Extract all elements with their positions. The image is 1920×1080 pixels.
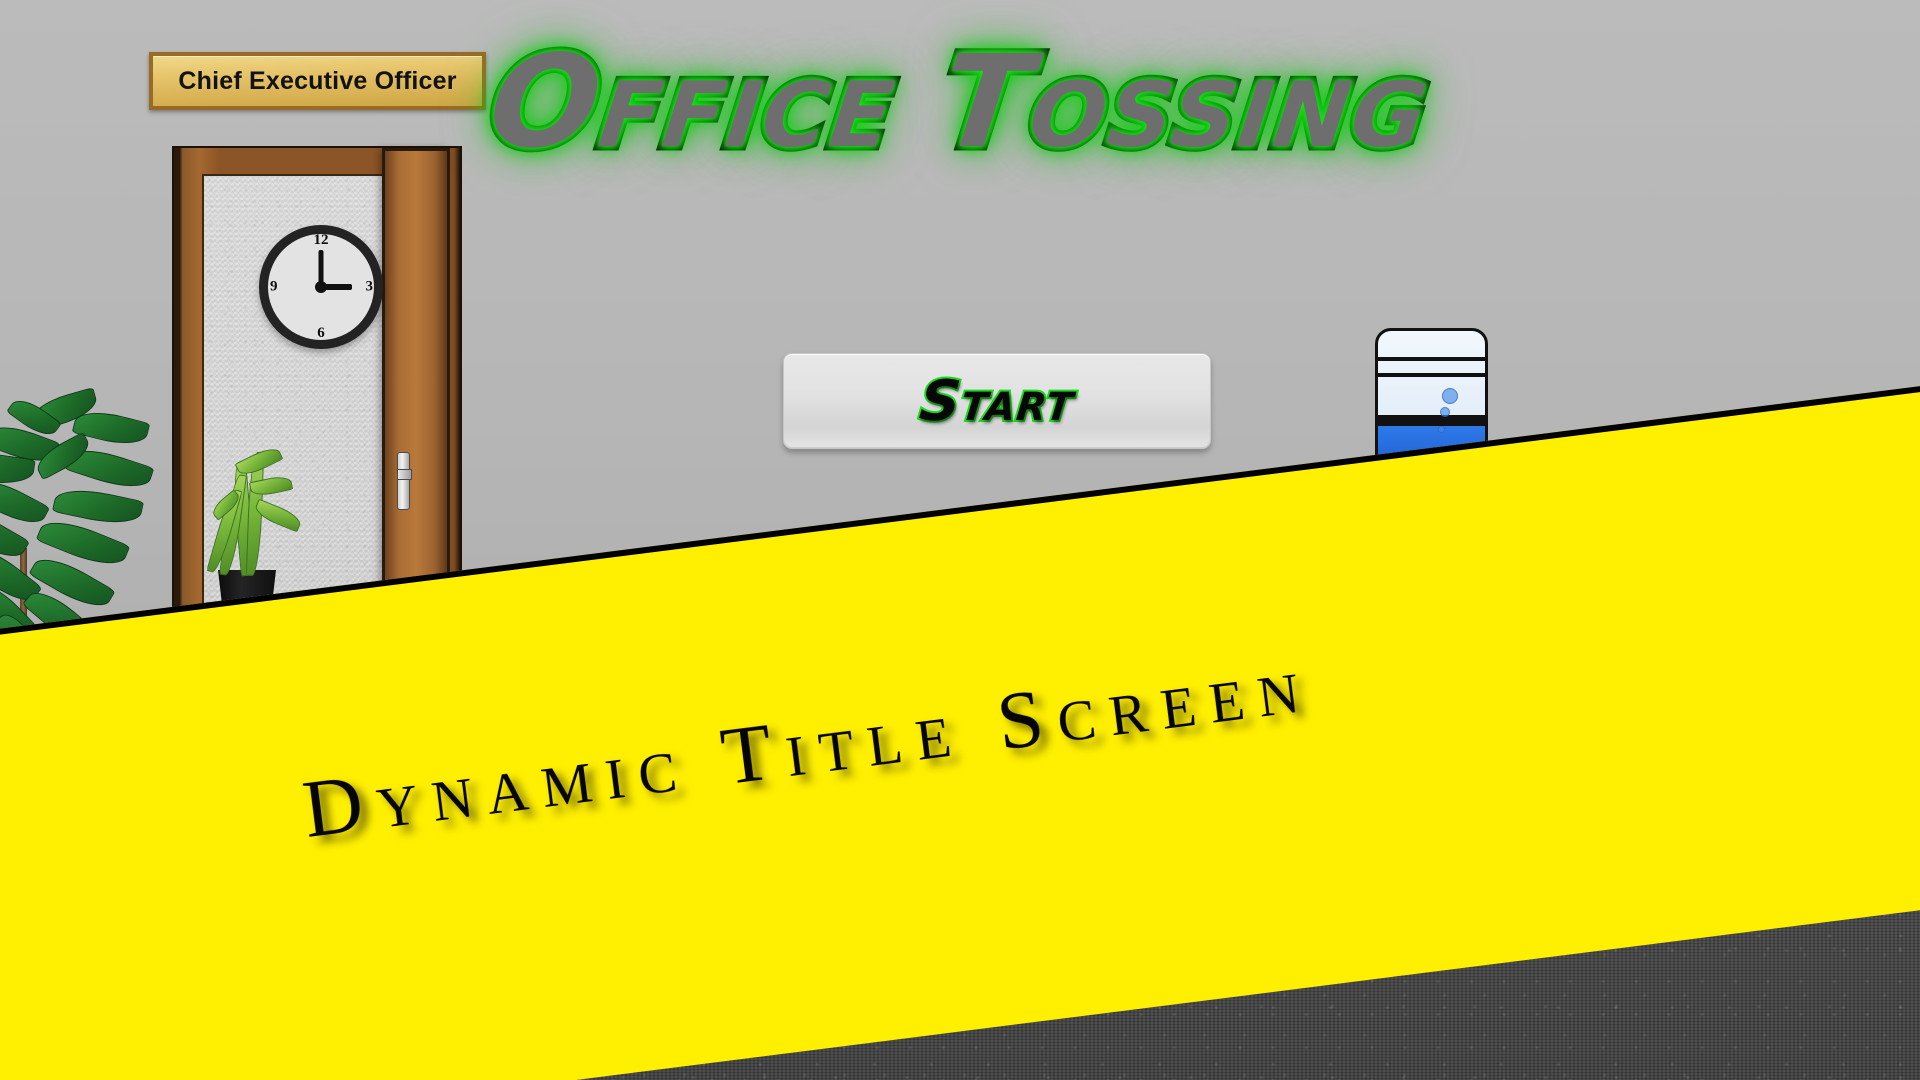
start-button[interactable]: Start: [783, 353, 1211, 449]
clock-number-12: 12: [314, 232, 329, 249]
game-title-screen: Chief Executive Officer 12 3 6 9: [0, 0, 1920, 1080]
clock-pivot: [315, 281, 327, 293]
door-handle: [397, 452, 410, 510]
clock-number-6: 6: [317, 325, 325, 342]
clock-number-3: 3: [366, 279, 374, 296]
start-button-label: Start: [917, 369, 1078, 434]
ceo-door-plaque-label: Chief Executive Officer: [178, 67, 456, 96]
clock-number-9: 9: [270, 279, 278, 296]
wall-clock: 12 3 6 9: [259, 225, 383, 349]
ceo-door-plaque: Chief Executive Officer: [149, 52, 486, 110]
